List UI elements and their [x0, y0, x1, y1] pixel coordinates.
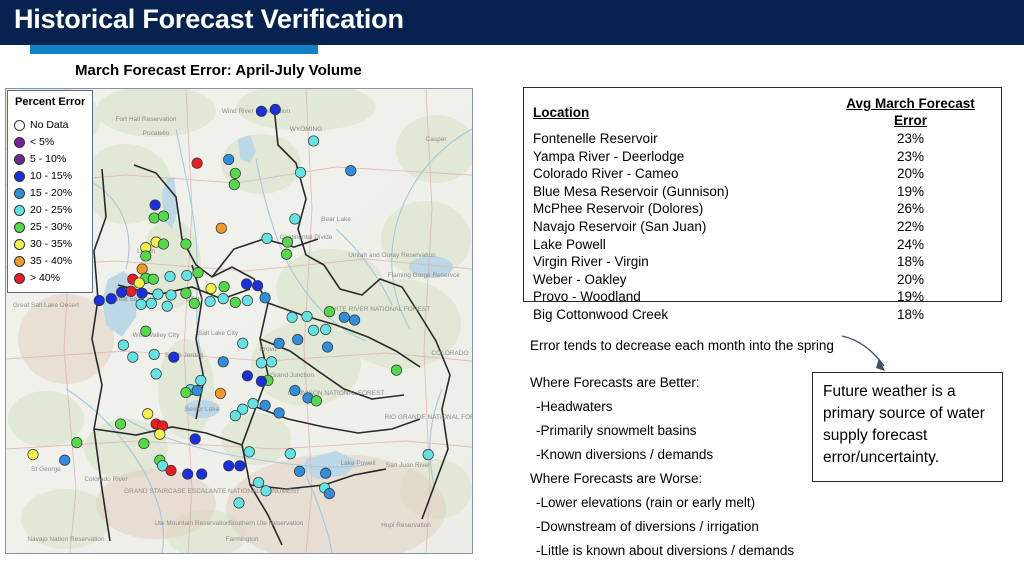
legend-item: No Data [14, 118, 69, 133]
legend-item-label: < 5% [30, 137, 54, 148]
legend-item-label: No Data [30, 120, 69, 131]
map-point[interactable] [322, 342, 332, 352]
map-point[interactable] [60, 455, 70, 465]
legend-item: 20 - 25% [14, 203, 72, 218]
map-place-label: Great Salt Lake Desert [13, 302, 79, 309]
note-list-item: -Downstream of diversions / irrigation [536, 517, 759, 536]
map-point[interactable] [274, 408, 284, 418]
note-better-heading: Where Forecasts are Better: [530, 373, 700, 392]
table-row: Big Cottonwood Creek18% [533, 306, 988, 324]
map-point[interactable] [169, 352, 179, 362]
map-place-label: Flaming Gorge Reservoir [388, 272, 461, 279]
map-point[interactable] [215, 388, 225, 398]
map-point[interactable] [151, 369, 161, 379]
map-point[interactable] [234, 498, 244, 508]
map-point[interactable] [287, 312, 297, 322]
map-point[interactable] [274, 338, 284, 348]
slide-root: Historical Forecast Verification March F… [0, 0, 1024, 575]
map-point[interactable] [230, 168, 240, 178]
table-header-error: Avg March Forecast Error [833, 95, 988, 130]
map-point[interactable] [137, 288, 147, 298]
legend-item: 35 - 40% [14, 254, 72, 269]
legend-item: 15 - 20% [14, 186, 72, 201]
cell-error: 19% [833, 183, 988, 201]
map-point[interactable] [115, 419, 125, 429]
map-point[interactable] [256, 358, 266, 368]
map-place-label: Provo [260, 346, 277, 353]
map-point[interactable] [219, 282, 229, 292]
cell-location: Lake Powell [533, 236, 833, 254]
map-point[interactable] [166, 465, 176, 475]
map-point[interactable] [166, 290, 176, 300]
map-point[interactable] [244, 447, 254, 457]
map-point[interactable] [137, 264, 147, 274]
table-row: Provo - Woodland19% [533, 288, 988, 306]
legend-title: Percent Error [15, 96, 85, 108]
legend-item: 25 - 30% [14, 220, 72, 235]
map-point[interactable] [205, 296, 215, 306]
map-place-label: Lake Powell [340, 460, 376, 467]
map-place-label: Ute Mountain Reservation [154, 520, 230, 527]
map-place-label: WHITE RIVER NATIONAL FOREST [326, 306, 430, 313]
map-point[interactable] [162, 301, 172, 311]
cell-error: 20% [833, 271, 988, 289]
map-place-label: GRAND STAIRCASE ESCALANTE NATIONAL MONUM… [124, 488, 300, 495]
map-point[interactable] [190, 434, 200, 444]
table-header-location: Location [533, 95, 833, 130]
map-point[interactable] [189, 298, 199, 308]
cell-location: Provo - Woodland [533, 288, 833, 306]
map-point[interactable] [253, 477, 263, 487]
cell-location: Weber - Oakley [533, 271, 833, 289]
map-place-label: Hopi Reservation [381, 522, 431, 529]
map-point[interactable] [192, 385, 202, 395]
map-point[interactable] [181, 288, 191, 298]
map-point[interactable] [165, 271, 175, 281]
map-point[interactable] [248, 398, 258, 408]
map-point[interactable] [238, 338, 248, 348]
legend-swatch-icon [14, 188, 25, 199]
map-point[interactable] [252, 281, 262, 291]
map-point[interactable] [308, 325, 318, 335]
legend-item: 5 - 10% [14, 152, 66, 167]
map-point[interactable] [158, 239, 168, 249]
map-point[interactable] [126, 286, 136, 296]
legend-item-label: 10 - 15% [30, 171, 72, 182]
map-point[interactable] [149, 349, 159, 359]
page-title: Historical Forecast Verification [14, 4, 404, 35]
map-place-label: Sevier Lake [185, 406, 220, 413]
map-point[interactable] [224, 154, 234, 164]
table-row: Colorado River - Cameo20% [533, 165, 988, 183]
cell-location: Fontenelle Reservoir [533, 130, 833, 148]
map-place-label: San Juan River [386, 462, 431, 469]
cell-location: Navajo Reservoir (San Juan) [533, 218, 833, 236]
map-point[interactable] [235, 461, 245, 471]
forecast-error-table-box: Location Avg March Forecast Error Fonten… [523, 87, 1002, 302]
map-point[interactable] [143, 409, 153, 419]
map-place-label: Casper [426, 136, 448, 143]
map-point[interactable] [311, 396, 321, 406]
map-point[interactable] [293, 334, 303, 344]
table-row: Blue Mesa Reservoir (Gunnison)19% [533, 183, 988, 201]
map-place-label: Southern Ute Reservation [229, 520, 304, 527]
map-point[interactable] [216, 223, 226, 233]
legend-item-label: 35 - 40% [30, 256, 72, 267]
map-point[interactable] [153, 289, 163, 299]
legend-item: < 5% [14, 135, 54, 150]
map-point[interactable] [294, 466, 304, 476]
map-point[interactable] [290, 385, 300, 395]
map-point[interactable] [218, 294, 228, 304]
map-point[interactable] [242, 295, 252, 305]
map-legend: Percent Error No Data< 5%5 - 10%10 - 15%… [7, 90, 93, 293]
cell-error: 18% [833, 253, 988, 271]
map-point[interactable] [346, 166, 356, 176]
legend-swatch-icon [14, 137, 25, 148]
map-point[interactable] [256, 106, 266, 116]
map-point[interactable] [94, 295, 104, 305]
legend-item: > 40% [14, 271, 60, 286]
map-place-label: WYOMING [290, 126, 323, 133]
legend-swatch-icon [14, 273, 25, 284]
cell-error: 23% [833, 130, 988, 148]
map-point[interactable] [146, 298, 156, 308]
map-place-label: Colorado River [84, 476, 128, 483]
cell-error: 22% [833, 218, 988, 236]
map-point[interactable] [242, 371, 252, 381]
map-place-label: COLORADO [431, 350, 468, 357]
legend-swatch-icon [14, 171, 25, 182]
map-point[interactable] [206, 283, 216, 293]
map-place-label: St George [31, 466, 61, 473]
map-point[interactable] [266, 357, 276, 367]
map-point[interactable] [224, 461, 234, 471]
cell-error: 26% [833, 200, 988, 218]
table-header-row: Location Avg March Forecast Error [533, 95, 988, 130]
legend-item-label: 30 - 35% [30, 239, 72, 250]
map-point[interactable] [349, 315, 359, 325]
map-point[interactable] [230, 297, 240, 307]
map-point[interactable] [155, 429, 165, 439]
map-place-label: Navajo Nation Reservation [27, 536, 105, 543]
map-place-label: Bear Lake [321, 216, 351, 223]
map-point[interactable] [158, 211, 168, 221]
legend-item: 30 - 35% [14, 237, 72, 252]
map-point[interactable] [141, 251, 151, 261]
legend-swatch-icon [14, 154, 25, 165]
map-point[interactable] [149, 213, 159, 223]
map-point[interactable] [285, 449, 295, 459]
map-point[interactable] [181, 387, 191, 397]
map-point[interactable] [262, 233, 272, 243]
map-point[interactable] [139, 438, 149, 448]
map-place-label: Salt Lake City [198, 330, 239, 337]
note-lead: Error tends to decrease each month into … [530, 336, 834, 355]
map-place-label: GUNNISON NATIONAL FOREST [288, 390, 385, 397]
map-point[interactable] [229, 179, 239, 189]
legend-swatch-icon [14, 256, 25, 267]
note-worse-heading: Where Forecasts are Worse: [530, 469, 702, 488]
map-point[interactable] [118, 340, 128, 350]
map-point[interactable] [290, 214, 300, 224]
map-point[interactable] [260, 293, 270, 303]
table-row: Fontenelle Reservoir23% [533, 130, 988, 148]
map-point[interactable] [183, 469, 193, 479]
map-point[interactable] [192, 158, 202, 168]
legend-swatch-icon [14, 222, 25, 233]
cell-error: 18% [833, 306, 988, 324]
map-place-label: Pocatello [143, 130, 170, 137]
map-point[interactable] [282, 237, 292, 247]
map-point[interactable] [197, 469, 207, 479]
map-place-label: Farmington [226, 536, 259, 543]
map-point[interactable] [324, 307, 334, 317]
note-list-item: -Little is known about diversions / dema… [536, 541, 794, 560]
cell-location: Blue Mesa Reservoir (Gunnison) [533, 183, 833, 201]
map-title: March Forecast Error: April-July Volume [75, 62, 362, 79]
callout-arrow-icon [840, 330, 910, 378]
legend-item-label: > 40% [30, 273, 60, 284]
cell-location: Colorado River - Cameo [533, 165, 833, 183]
cell-location: Virgin River - Virgin [533, 253, 833, 271]
map-point[interactable] [136, 299, 146, 309]
map-point[interactable] [134, 278, 144, 288]
table-row: Yampa River - Deerlodge23% [533, 148, 988, 166]
note-list-item: -Headwaters [536, 397, 613, 416]
map-point[interactable] [218, 357, 228, 367]
header-accent-bar [30, 45, 318, 54]
note-list-item: -Primarily snowmelt basins [536, 421, 697, 440]
map-place-label: Grand Junction [270, 372, 314, 379]
note-list-item: -Lower elevations (rain or early melt) [536, 493, 755, 512]
map-point[interactable] [302, 311, 312, 321]
map-point[interactable] [193, 268, 203, 278]
map-point[interactable] [339, 312, 349, 322]
legend-item-label: 25 - 30% [30, 222, 72, 233]
map-point[interactable] [72, 437, 82, 447]
legend-swatch-icon [14, 205, 25, 216]
map-point[interactable] [324, 488, 334, 498]
map-point[interactable] [148, 274, 158, 284]
legend-swatch-icon [14, 120, 25, 131]
forecast-error-table: Location Avg March Forecast Error Fonten… [533, 95, 988, 324]
map-point[interactable] [196, 375, 206, 385]
cell-error: 20% [833, 165, 988, 183]
table-row: Virgin River - Virgin18% [533, 253, 988, 271]
map-point[interactable] [261, 486, 271, 496]
map-point[interactable] [270, 104, 280, 114]
table-body: Fontenelle Reservoir23%Yampa River - Dee… [533, 130, 988, 324]
map-point[interactable] [321, 468, 331, 478]
legend-item-label: 20 - 25% [30, 205, 72, 216]
map-point[interactable] [150, 200, 160, 210]
legend-swatch-icon [14, 239, 25, 250]
map-place-label: Uintah and Ouray Reservation [348, 252, 436, 259]
map-point[interactable] [128, 352, 138, 362]
map-place-label: West Valley City [133, 332, 180, 339]
map-point[interactable] [321, 324, 331, 334]
table-row: Weber - Oakley20% [533, 271, 988, 289]
map-point[interactable] [256, 376, 266, 386]
map-point[interactable] [295, 167, 305, 177]
cell-location: McPhee Reservoir (Dolores) [533, 200, 833, 218]
map-point[interactable] [116, 287, 126, 297]
legend-item-label: 15 - 20% [30, 188, 72, 199]
map-point[interactable] [141, 326, 151, 336]
map-place-label: Fort Hall Reservation [115, 116, 176, 123]
map-point[interactable] [423, 449, 433, 459]
map-point[interactable] [391, 365, 401, 375]
cell-error: 23% [833, 148, 988, 166]
callout-box: Future weather is a primary source of wa… [812, 372, 1003, 482]
map-point[interactable] [182, 270, 192, 280]
map-point[interactable] [181, 239, 191, 249]
cell-location: Big Cottonwood Creek [533, 306, 833, 324]
legend-item: 10 - 15% [14, 169, 72, 184]
forecast-error-map[interactable]: Fort Hall ReservationPocatelloWYOMINGWin… [5, 88, 473, 554]
table-row: Navajo Reservoir (San Juan)22% [533, 218, 988, 236]
map-point[interactable] [241, 279, 251, 289]
map-point[interactable] [230, 411, 240, 421]
map-point[interactable] [260, 400, 270, 410]
cell-location: Yampa River - Deerlodge [533, 148, 833, 166]
map-point[interactable] [28, 449, 38, 459]
note-list-item: -Known diversions / demands [536, 445, 713, 464]
map-place-label: RIO GRANDE NATIONAL FOREST [385, 414, 472, 421]
map-point[interactable] [281, 249, 291, 259]
map-point[interactable] [106, 294, 116, 304]
header-bar: Historical Forecast Verification [0, 0, 1024, 45]
legend-item-label: 5 - 10% [30, 154, 66, 165]
map-point[interactable] [308, 136, 318, 146]
callout-text: Future weather is a primary source of wa… [823, 381, 995, 469]
cell-error: 24% [833, 236, 988, 254]
table-row: Lake Powell24% [533, 236, 988, 254]
cell-error: 19% [833, 288, 988, 306]
table-row: McPhee Reservoir (Dolores)26% [533, 200, 988, 218]
